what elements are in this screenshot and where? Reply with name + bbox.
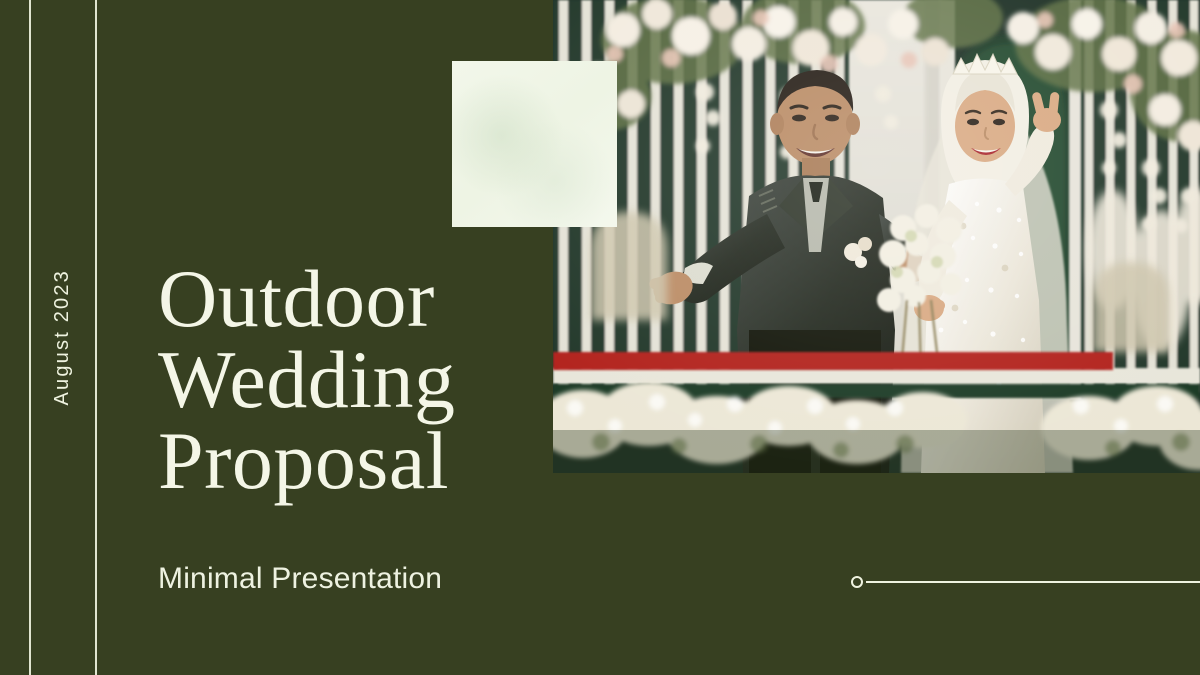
date-label-vertical: August 2023 [30, 0, 95, 675]
title-line-3: Proposal [158, 420, 578, 501]
vertical-rule-inner [95, 0, 97, 675]
accent-rule [866, 581, 1200, 583]
wedding-photo [553, 0, 1200, 473]
vertical-rule-outer [29, 0, 31, 675]
presentation-slide: August 2023 Outdoor Wedding Proposal Min… [0, 0, 1200, 675]
title-line-2: Wedding [158, 339, 578, 420]
wedding-photo-illustration [553, 0, 1200, 473]
title-line-1: Outdoor [158, 258, 578, 339]
pale-accent-square [452, 61, 617, 227]
subtitle: Minimal Presentation [158, 562, 442, 596]
accent-circle-icon [851, 576, 863, 588]
date-label-text: August 2023 [51, 269, 74, 406]
page-title: Outdoor Wedding Proposal [158, 258, 578, 502]
